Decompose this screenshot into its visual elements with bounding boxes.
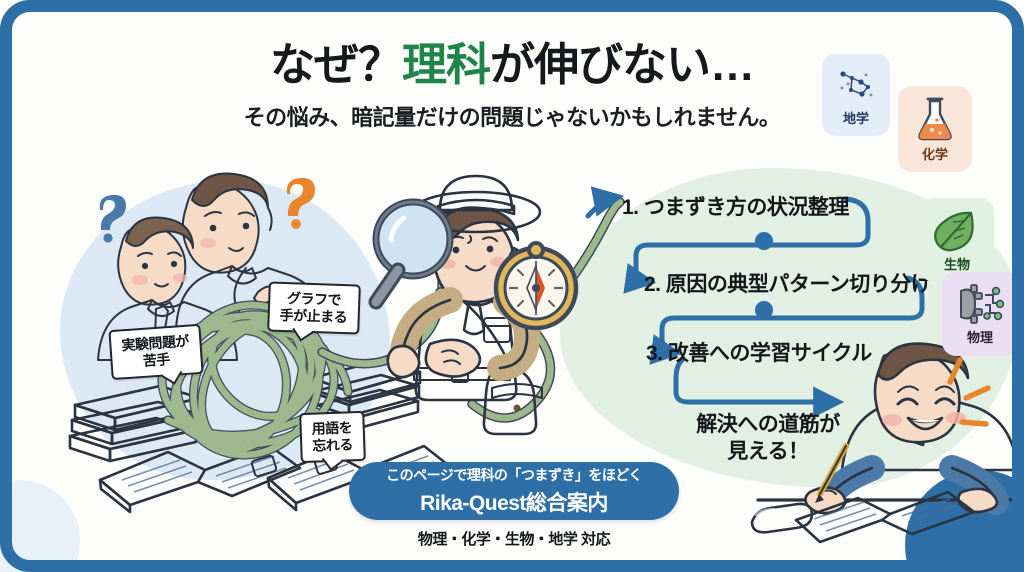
badge-label: 生物 <box>944 254 970 273</box>
bubble-line1: 用語を <box>311 419 352 437</box>
leaf-icon <box>935 208 979 252</box>
step-item-3[interactable]: 3. 改善への学習サイクル <box>646 337 872 367</box>
subject-badge-butsuri[interactable]: 物理 <box>942 272 1018 356</box>
step-item-2[interactable]: 2. 原因の典型パターン切り分け <box>644 268 931 298</box>
subject-badge-kagaku[interactable]: 化学 <box>898 86 972 172</box>
bubble-line1: グラフで <box>280 290 348 309</box>
badge-label: 物理 <box>967 327 993 346</box>
speech-bubble-jikken: 実験問題が 苦手 <box>108 324 203 380</box>
result-line1: 解決への道筋が <box>668 412 868 439</box>
gear-circuit-icon <box>957 283 1003 325</box>
cta-title: Rika-Quest総合案内 <box>420 487 608 517</box>
speech-bubble-yougo: 用語を 忘れる <box>299 411 365 463</box>
infographic-canvas: .ln{fill:none;stroke:#2b3440;stroke-widt… <box>0 0 1024 572</box>
step-item-1[interactable]: 1. つまずき方の状況整理 <box>622 191 849 221</box>
subject-badge-chigaku[interactable]: 地学 <box>822 54 890 136</box>
subject-badge-seibutsu[interactable]: 生物 <box>920 198 994 282</box>
speech-bubble-graph: グラフで 手が止まる <box>267 281 360 334</box>
cta-caption: 物理・化学・生物・地学 対応 <box>349 528 679 549</box>
flask-icon <box>914 96 956 142</box>
cta-banner[interactable]: このページで理科の「つまずき」をほどく Rika-Quest総合案内 <box>349 462 679 520</box>
cta-subtitle: このページで理科の「つまずき」をほどく <box>386 465 642 485</box>
bubble-line2: 手が止まる <box>279 307 347 326</box>
badge-label: 化学 <box>922 144 948 163</box>
result-callout: 解決への道筋が 見える！ <box>668 412 868 466</box>
badge-label: 地学 <box>843 108 869 127</box>
constellation-icon <box>835 64 877 106</box>
result-line2: 見える！ <box>668 439 868 466</box>
